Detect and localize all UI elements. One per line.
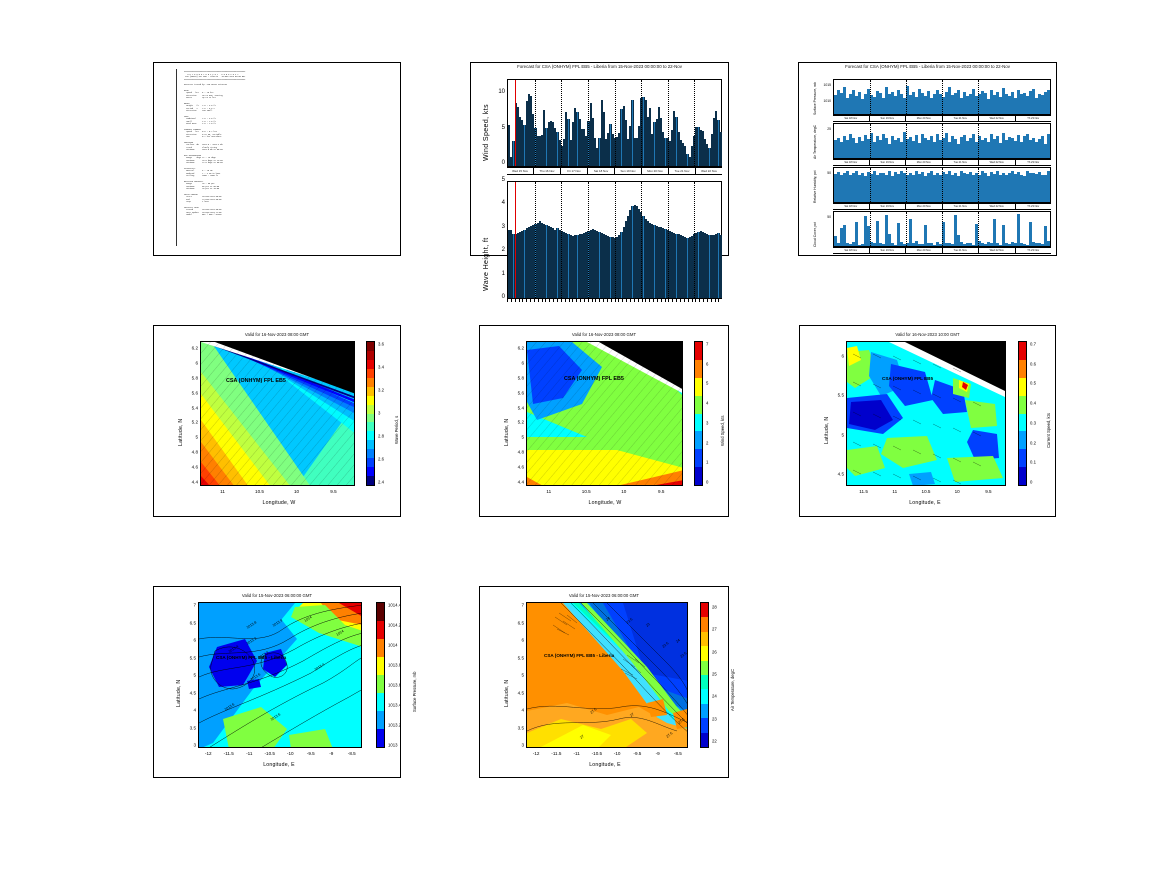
colorbar-segment (377, 675, 384, 693)
wind-speed-ytick-0: 0 (491, 160, 505, 166)
wind-speed-colorbar (694, 341, 703, 486)
four-stack-ylabel: Cloud Cover, pct (813, 222, 817, 247)
colorbar-tick: 3.6 (378, 342, 384, 347)
wave-period-site-label: CSA (ONHYM) FPL EB5 (226, 378, 286, 384)
gridline (615, 80, 616, 166)
colorbar-segment (377, 711, 384, 729)
gridline (942, 124, 943, 158)
y-tick: 4.8 (504, 450, 524, 455)
x-tick: 10 (955, 489, 960, 494)
colorbar-tick: 27 (712, 627, 717, 632)
colorbar-segment (701, 603, 708, 617)
gridline (615, 182, 616, 298)
x-tick: -10 (287, 751, 294, 756)
panel-map-wave-period: Valid for 16-Nov-2023 08:00 GMT (153, 325, 401, 517)
colorbar-tick: 5 (706, 381, 708, 386)
bar (720, 132, 722, 166)
four-stack-day-strip: Sat 18 NovSun 19 NovMon 20 NovTue 21 Nov… (833, 159, 1051, 166)
wave-height-ylabel: Wave Height, ft (483, 237, 490, 291)
day-cell: Mon 20 Nov (906, 204, 943, 209)
colorbar-segment (701, 733, 708, 747)
colorbar-segment (1019, 342, 1026, 360)
current-speed-site-label: CSA (ONHYM) FPL EB5 (882, 376, 933, 381)
air-temp-xlabel: Longitude, E (510, 762, 700, 768)
x-tick: 11 (546, 489, 551, 494)
wave-height-ytick-1: 1 (491, 271, 505, 277)
colorbar-segment (367, 440, 374, 449)
day-cell: Wed 22 Nov (979, 204, 1016, 209)
colorbar-tick: 28 (712, 605, 717, 610)
colorbar-segment (701, 661, 708, 675)
panel-text-report: ========================================… (153, 62, 401, 256)
bar (720, 235, 722, 298)
day-cell: Wed 22 Nov (696, 168, 722, 174)
y-tick: 5.6 (178, 390, 198, 395)
gridline (668, 80, 669, 166)
colorbar-tick: 0.5 (1030, 381, 1036, 386)
y-tick: 4.6 (504, 465, 524, 470)
y-tick: 4.8 (178, 450, 198, 455)
forecast-report-page: ========================================… (0, 0, 1167, 875)
y-tick: 3 (176, 743, 196, 748)
timeseries-day-strip: Wed 15 NovThu 16 NovFri 17 NovSat 18 Nov… (507, 167, 722, 175)
y-tick: 4.4 (504, 480, 524, 485)
gridline (561, 182, 562, 298)
colorbar-tick: 1014 (388, 643, 398, 648)
report-line: Model GFS / WW3 / HYCOM (184, 214, 394, 217)
colorbar-segment (377, 657, 384, 675)
day-cell: Tue 21 Nov (943, 160, 980, 165)
wave-period-title: Valid for 16-Nov-2023 08:00 GMT (154, 332, 400, 337)
colorbar-tick: 1013.8 (388, 663, 401, 668)
gridline (978, 80, 979, 114)
x-tick: -8.5 (348, 751, 356, 756)
y-tick: 6 (178, 360, 198, 365)
day-cell: Sat 18 Nov (588, 168, 615, 174)
x-tick: -11 (246, 751, 252, 756)
colorbar-segment (367, 449, 374, 458)
x-tick: -11.5 (224, 751, 234, 756)
day-cell: Tue 21 Nov (669, 168, 696, 174)
x-tick: -10.5 (265, 751, 275, 756)
wind-speed-ylabel: Wind Speed, kts (483, 104, 490, 161)
wave-period-field (201, 342, 355, 486)
bar (1047, 171, 1050, 202)
wind-speed-map-axes (526, 341, 683, 486)
panel-map-air-temperature: Valid for 15-Nov-2023 06:00:00 GMT (479, 586, 729, 778)
current-speed-field (847, 342, 1006, 486)
wave-height-ytick-0: 0 (491, 294, 505, 300)
four-stack-ytick: 50 (815, 215, 831, 219)
wind-speed-map-ylabel: Latitude, N (504, 419, 510, 446)
y-tick: 5 (504, 673, 524, 678)
pressure-field (199, 603, 362, 748)
air-temp-colorbar (700, 602, 709, 748)
colorbar-tick: 1 (706, 460, 708, 465)
y-tick: 3.5 (504, 725, 524, 730)
four-stack-subplot (833, 79, 1051, 115)
wind-speed-colorbar-label: Wind Speed, kts (720, 416, 725, 447)
colorbar-segment (701, 718, 708, 732)
report-body: ========================================… (184, 71, 394, 217)
colorbar-segment (701, 704, 708, 718)
day-cell: Mon 20 Nov (642, 168, 669, 174)
x-tick: -9 (656, 751, 660, 756)
y-tick: 6 (176, 638, 196, 643)
colorbar-tick: 7 (706, 342, 708, 347)
bar (1047, 134, 1050, 158)
colorbar-segment (701, 675, 708, 689)
colorbar-segment (367, 396, 374, 405)
colorbar-segment (695, 414, 702, 432)
gridline (588, 182, 589, 298)
air-temp-title: Valid for 15-Nov-2023 06:00:00 GMT (480, 593, 728, 598)
colorbar-segment (367, 351, 374, 360)
wave-height-ytick-3: 3 (491, 224, 505, 230)
gridline (978, 212, 979, 246)
day-cell: Th 23 Nov (1016, 248, 1052, 253)
now-marker-line-2 (515, 182, 516, 298)
wind-speed-ytick-5: 5 (491, 125, 505, 131)
gridline (588, 80, 589, 166)
x-tick: 10 (621, 489, 626, 494)
x-tick: 9.5 (330, 489, 336, 494)
pressure-axes (198, 602, 362, 748)
panel-map-surface-pressure: Valid for 15-Nov-2023 06:00:00 GMT (153, 586, 401, 778)
colorbar-segment (1019, 396, 1026, 414)
gridline (942, 168, 943, 202)
y-tick: 5.5 (504, 655, 524, 660)
colorbar-segment (695, 342, 702, 360)
colorbar-segment (377, 639, 384, 657)
wind-speed-field (527, 342, 683, 486)
colorbar-tick: 2 (706, 440, 708, 445)
x-tick: 10.5 (922, 489, 931, 494)
colorbar-segment (367, 476, 374, 485)
y-tick: 4.5 (824, 472, 844, 477)
y-tick: 4.6 (178, 465, 198, 470)
bar (993, 219, 996, 246)
colorbar-segment (695, 360, 702, 378)
colorbar-segment (695, 467, 702, 485)
bar (909, 219, 912, 246)
colorbar-segment (377, 603, 384, 621)
wave-period-colorbar (366, 341, 375, 486)
colorbar-segment (701, 646, 708, 660)
pressure-colorbar (376, 602, 385, 748)
colorbar-segment (367, 431, 374, 440)
colorbar-segment (367, 342, 374, 351)
gridline (906, 80, 907, 114)
day-cell: Wed 15 Nov (507, 168, 534, 174)
gridline (561, 80, 562, 166)
colorbar-segment (701, 617, 708, 631)
current-speed-xlabel: Longitude, E (830, 500, 1020, 506)
wave-height-ytick-2: 2 (491, 247, 505, 253)
colorbar-tick: 0.4 (1030, 401, 1036, 406)
y-tick: 6.5 (504, 620, 524, 625)
day-cell: Th 23 Nov (1016, 204, 1052, 209)
x-tick: -10.5 (592, 751, 602, 756)
wave-height-subplot (507, 181, 722, 299)
colorbar-tick: 3 (378, 411, 380, 416)
pressure-ylabel: Latitude, N (176, 680, 182, 707)
gridline (870, 212, 871, 246)
y-tick: 6 (504, 638, 524, 643)
wind-speed-ytick-10: 10 (491, 89, 505, 95)
colorbar-segment (701, 689, 708, 703)
pressure-colorbar-label: Surface Pressure, mb (412, 672, 417, 713)
x-tick: -9 (329, 751, 333, 756)
y-tick: 5.4 (178, 405, 198, 410)
colorbar-segment (1019, 467, 1026, 485)
timeseries-bottom-ticks (507, 299, 722, 302)
day-cell: Sun 19 Nov (870, 248, 907, 253)
current-speed-colorbar (1018, 341, 1027, 486)
colorbar-segment (377, 729, 384, 747)
colorbar-tick: 2.8 (378, 434, 384, 439)
four-stack-day-strip: Sat 18 NovSun 19 NovMon 20 NovTue 21 Nov… (833, 247, 1051, 254)
y-tick: 7 (176, 603, 196, 608)
gridline (870, 168, 871, 202)
four-stack-ytick: 1015 (815, 83, 831, 87)
colorbar-segment (367, 422, 374, 431)
bar (1047, 241, 1050, 246)
colorbar-tick: 23 (712, 716, 717, 721)
pressure-title: Valid for 15-Nov-2023 06:00:00 GMT (154, 593, 400, 598)
x-tick: -12 (533, 751, 540, 756)
day-cell: Mon 20 Nov (906, 248, 943, 253)
colorbar-segment (1019, 431, 1026, 449)
air-temp-ylabel: Latitude, N (504, 680, 510, 707)
colorbar-segment (695, 449, 702, 467)
colorbar-tick: 1013.2 (388, 723, 401, 728)
y-tick: 4 (504, 708, 524, 713)
gridline (694, 80, 695, 166)
day-cell: Thu 16 Nov (534, 168, 561, 174)
axis-tick (718, 299, 722, 302)
four-stack-day-strip: Sat 18 NovSun 19 NovMon 20 NovTue 21 Nov… (833, 203, 1051, 210)
timeseries-title: Forecast for CSA (ONHYM) FPL EB5 - Liber… (471, 64, 728, 69)
y-tick: 5.8 (504, 375, 524, 380)
colorbar-segment (377, 621, 384, 639)
y-tick: 5.5 (176, 655, 196, 660)
x-tick: 10.5 (255, 489, 264, 494)
x-tick: 9.5 (985, 489, 991, 494)
day-cell: Mon 20 Nov (906, 116, 943, 121)
wind-speed-map-title: Valid for 16-Nov-2023 08:00 GMT (480, 332, 728, 337)
colorbar-tick: 0.3 (1030, 420, 1036, 425)
y-tick: 6 (824, 354, 844, 359)
air-temp-site-label: CSA (ONHYM) FPL EB5 - Liberia (544, 653, 614, 658)
colorbar-tick: 0.1 (1030, 460, 1036, 465)
now-marker-line (515, 80, 516, 166)
panel-map-wind-speed: Valid for 16-Nov-2023 08:00 GMT (479, 325, 729, 517)
y-tick: 3 (504, 743, 524, 748)
colorbar-tick: 1014.2 (388, 623, 401, 628)
gridline (906, 168, 907, 202)
wave-period-ylabel: Latitude, N (178, 419, 184, 446)
x-tick: -8.5 (674, 751, 682, 756)
colorbar-tick: 26 (712, 649, 717, 654)
panel-four-stack-timeseries: Forecast for CSA (ONHYM) FPL EB5 - Liber… (798, 62, 1057, 256)
colorbar-tick: 0 (706, 480, 708, 485)
colorbar-segment (701, 632, 708, 646)
colorbar-tick: 1013.6 (388, 683, 401, 688)
colorbar-segment (1019, 360, 1026, 378)
colorbar-tick: 1013 (388, 743, 398, 748)
colorbar-segment (367, 414, 374, 423)
day-cell: Sat 18 Nov (833, 248, 870, 253)
wave-period-colorbar-label: Wave Period, s (394, 416, 399, 444)
x-tick: -11 (573, 751, 579, 756)
day-cell: Wed 22 Nov (979, 116, 1016, 121)
colorbar-segment (367, 369, 374, 378)
panel-wind-wave-timeseries: Forecast for CSA (ONHYM) FPL EB5 - Liber… (470, 62, 729, 256)
day-cell: Wed 22 Nov (979, 160, 1016, 165)
x-tick: 11 (892, 489, 897, 494)
colorbar-tick: 2.4 (378, 480, 384, 485)
gridline (906, 124, 907, 158)
colorbar-segment (367, 467, 374, 476)
colorbar-tick: 1013.4 (388, 703, 401, 708)
wind-speed-map-xlabel: Longitude, W (510, 500, 700, 506)
y-tick: 3.5 (176, 725, 196, 730)
x-tick: -9.5 (307, 751, 315, 756)
day-cell: Tue 21 Nov (943, 204, 980, 209)
day-cell: Wed 22 Nov (979, 248, 1016, 253)
four-stack-subplot (833, 167, 1051, 203)
four-stack-ytick: 25 (815, 127, 831, 131)
colorbar-tick: 3.2 (378, 388, 384, 393)
y-tick: 6.2 (504, 346, 524, 351)
colorbar-tick: 1014.4 (388, 603, 401, 608)
colorbar-segment (1019, 378, 1026, 396)
gridline (694, 182, 695, 298)
gridline (906, 212, 907, 246)
four-stack-ytick: 50 (815, 171, 831, 175)
bar (1017, 214, 1020, 246)
x-tick: 10.5 (582, 489, 591, 494)
colorbar-tick: 2.6 (378, 457, 384, 462)
colorbar-tick: 0.6 (1030, 361, 1036, 366)
day-cell: Sat 18 Nov (833, 204, 870, 209)
wind-speed-site-label: CSA (ONHYM) FPL EB5 (564, 376, 624, 382)
colorbar-segment (367, 458, 374, 467)
gridline (870, 124, 871, 158)
four-stack-subplot (833, 211, 1051, 247)
colorbar-segment (367, 387, 374, 396)
gridline (535, 80, 536, 166)
day-cell: Sun 19 Nov (870, 160, 907, 165)
colorbar-tick: 0 (1030, 480, 1032, 485)
day-cell: Tue 21 Nov (943, 116, 980, 121)
day-cell: Sat 18 Nov (833, 116, 870, 121)
report-left-rule (176, 69, 177, 246)
day-cell: Th 23 Nov (1016, 116, 1052, 121)
day-cell: Mon 20 Nov (906, 160, 943, 165)
colorbar-segment (367, 405, 374, 414)
four-stack-ytick: 1010 (815, 99, 831, 103)
wave-height-ytick-4: 4 (491, 200, 505, 206)
x-tick: -10 (614, 751, 621, 756)
y-tick: 7 (504, 603, 524, 608)
colorbar-tick: 3 (706, 420, 708, 425)
wave-period-axes (200, 341, 355, 486)
day-cell: Tue 21 Nov (943, 248, 980, 253)
y-tick: 6.2 (178, 346, 198, 351)
day-cell: Fri 17 Nov (561, 168, 588, 174)
colorbar-tick: 0.2 (1030, 440, 1036, 445)
y-tick: 6.5 (176, 620, 196, 625)
colorbar-segment (367, 378, 374, 387)
gridline (978, 124, 979, 158)
four-stack-day-strip: Sat 18 NovSun 19 NovMon 20 NovTue 21 Nov… (833, 115, 1051, 122)
colorbar-tick: 3.4 (378, 365, 384, 370)
current-speed-title: Valid for 16-Nov-2023 10:00 GMT (800, 332, 1055, 337)
wave-height-ytick-5: 5 (491, 177, 505, 183)
pressure-xlabel: Longitude, E (184, 762, 374, 768)
y-tick: 4.4 (178, 480, 198, 485)
y-tick: 5.8 (178, 375, 198, 380)
air-temp-axes (526, 602, 688, 748)
wave-period-xlabel: Longitude, W (184, 500, 374, 506)
current-speed-ylabel: Latitude, N (824, 417, 830, 444)
x-tick: 11.5 (859, 489, 868, 494)
y-tick: 5.4 (504, 405, 524, 410)
current-speed-colorbar-label: Current Speed, kts (1046, 413, 1051, 448)
day-cell: Th 23 Nov (1016, 160, 1052, 165)
colorbar-tick: 6 (706, 361, 708, 366)
day-cell: Sun 19 Nov (870, 116, 907, 121)
colorbar-segment (695, 378, 702, 396)
gridline (942, 80, 943, 114)
x-tick: -11.5 (551, 751, 561, 756)
colorbar-segment (695, 396, 702, 414)
y-tick: 6 (504, 360, 524, 365)
four-stack-subplot (833, 123, 1051, 159)
y-tick: 5.6 (504, 390, 524, 395)
bar (855, 222, 858, 246)
x-tick: -12 (205, 751, 212, 756)
x-tick: 10 (294, 489, 299, 494)
gridline (641, 80, 642, 166)
colorbar-tick: 24 (712, 694, 717, 699)
four-stack-title: Forecast for CSA (ONHYM) FPL EB5 - Liber… (799, 64, 1056, 69)
colorbar-tick: 0.7 (1030, 342, 1036, 347)
gridline (978, 168, 979, 202)
colorbar-tick: 22 (712, 739, 717, 744)
y-tick: 5 (176, 673, 196, 678)
wind-speed-subplot (507, 79, 722, 167)
day-cell: Sun 19 Nov (870, 204, 907, 209)
gridline (942, 212, 943, 246)
bar (1047, 90, 1050, 114)
current-speed-axes (846, 341, 1006, 486)
air-temp-field (527, 603, 688, 748)
colorbar-segment (367, 360, 374, 369)
colorbar-segment (1019, 449, 1026, 467)
gridline (870, 80, 871, 114)
four-stack-ylabel: Relative Humidity, pct (813, 170, 817, 203)
colorbar-segment (1019, 414, 1026, 432)
colorbar-segment (377, 693, 384, 711)
gridline (641, 182, 642, 298)
colorbar-segment (695, 431, 702, 449)
x-tick: -9.5 (633, 751, 641, 756)
colorbar-tick: 25 (712, 672, 717, 677)
panel-map-current-speed: Valid for 16-Nov-2023 10:00 GMT (799, 325, 1056, 517)
